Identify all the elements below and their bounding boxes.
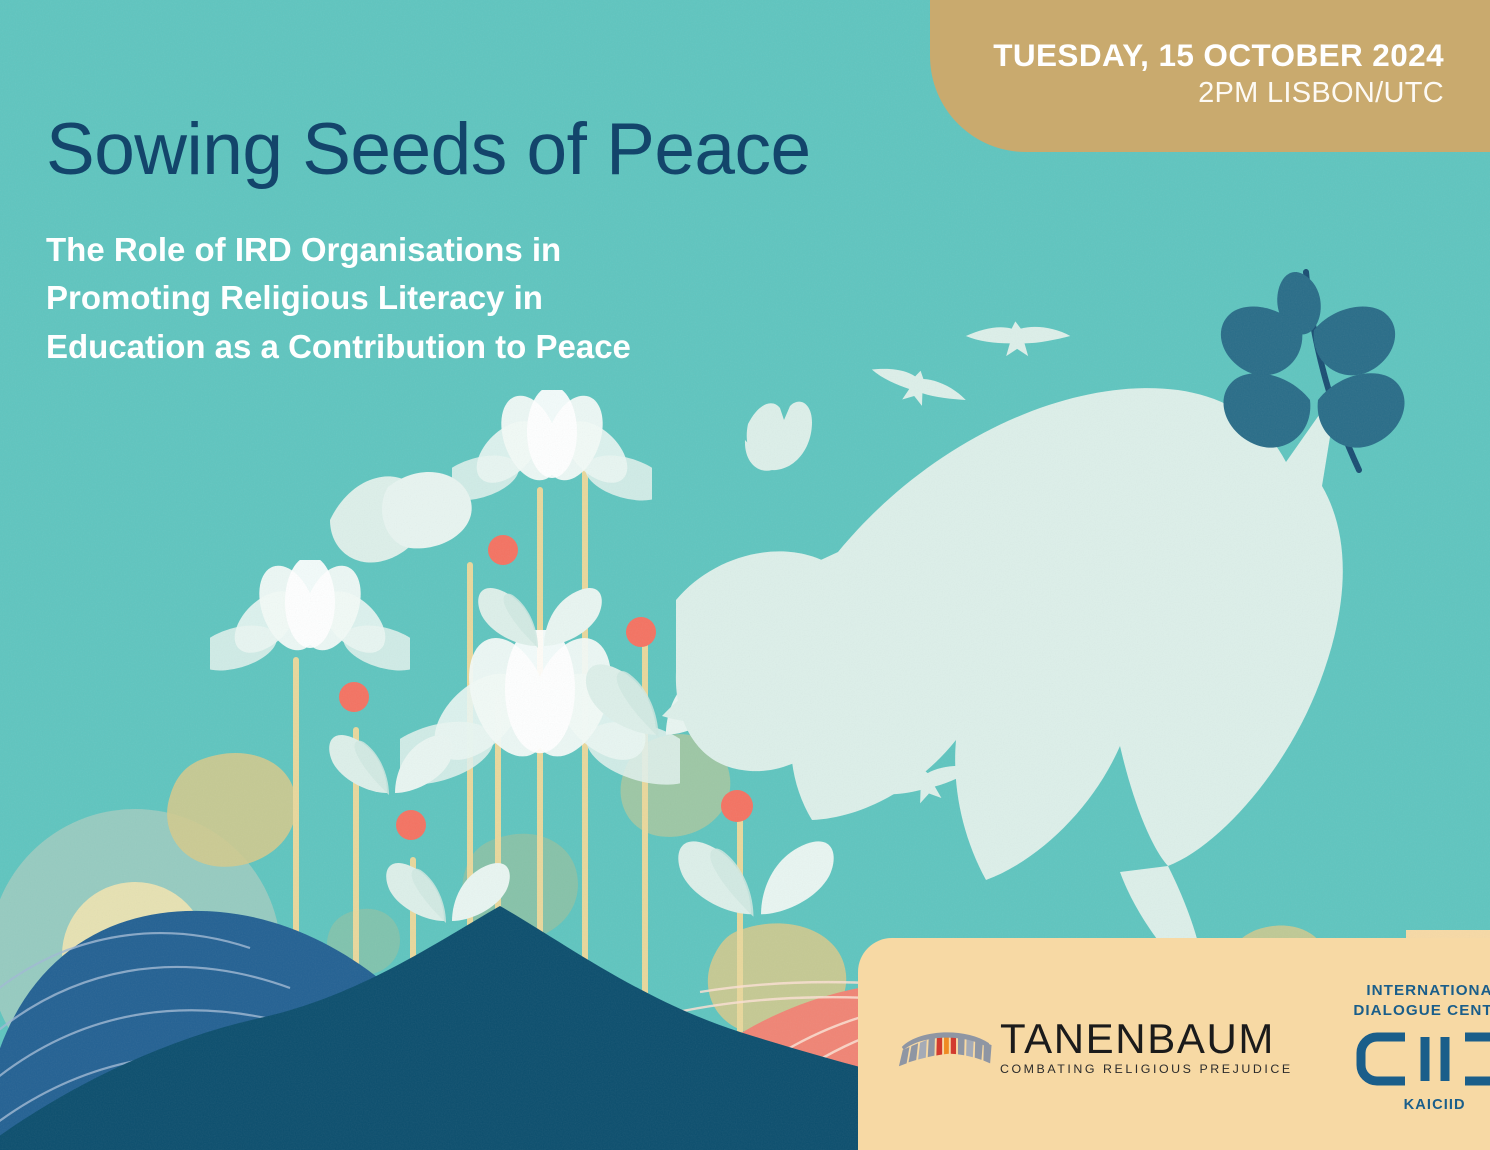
event-date: TUESDAY, 15 OCTOBER 2024 <box>982 38 1444 73</box>
event-time: 2PM LISBON/UTC <box>982 75 1444 113</box>
tanenbaum-logo: TANENBAUM COMBATING RELIGIOUS PREJUDICE <box>896 1018 1293 1078</box>
kaiciid-acronym: KAICIID <box>1353 1097 1490 1113</box>
kaiciid-line-1: INTERNATIONAL <box>1353 981 1490 1001</box>
headline-block: Sowing Seeds of Peace The Role of IRD Or… <box>46 112 906 371</box>
tanenbaum-name: TANENBAUM <box>1000 1015 1275 1062</box>
kaiciid-logo: INTERNATIONAL DIALOGUE CENTRE KAICIID <box>1353 981 1490 1113</box>
tanenbaum-tagline: COMBATING RELIGIOUS PREJUDICE <box>1000 1062 1293 1076</box>
date-banner: TUESDAY, 15 OCTOBER 2024 2PM LISBON/UTC <box>930 0 1490 152</box>
page-subtitle: The Role of IRD Organisations in Promoti… <box>46 226 686 372</box>
poster-canvas: TUESDAY, 15 OCTOBER 2024 2PM LISBON/UTC … <box>0 0 1490 1150</box>
kaiciid-line-2: DIALOGUE CENTRE <box>1353 1001 1490 1021</box>
page-title: Sowing Seeds of Peace <box>46 112 906 188</box>
tanenbaum-dome-grid-icon <box>896 1024 994 1072</box>
ciid-monogram-icon <box>1353 1029 1490 1089</box>
logo-panel: TANENBAUM COMBATING RELIGIOUS PREJUDICE … <box>858 938 1490 1150</box>
